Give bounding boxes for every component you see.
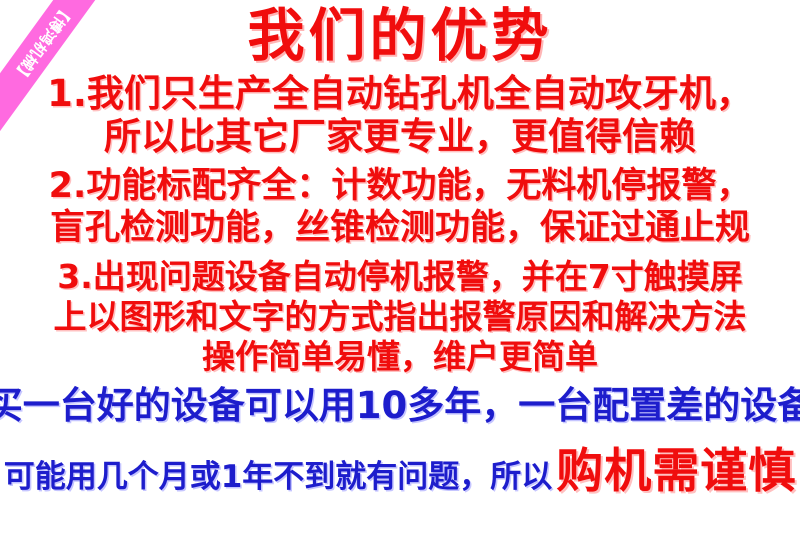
- advantage-1-line-2: 所以比其它厂家更专业，更值得信赖: [104, 118, 696, 155]
- closing-line-2: 可能用几个月或1年不到就有问题，所以 购机需谨慎: [4, 432, 797, 501]
- advantage-2-line-1: 2.功能标配齐全：计数功能，无料机停报警，: [49, 169, 752, 204]
- closing-line-2-blue: 可能用几个月或1年不到就有问题，所以: [4, 451, 553, 496]
- advantage-3-line-1: 3.出现问题设备自动停机报警，并在7寸触摸屏: [57, 260, 742, 293]
- page-title: 我们的优势: [248, 8, 553, 65]
- closing-line-2-emphasis: 购机需谨慎: [556, 432, 796, 501]
- closing-line-1: 买一台好的设备可以用10多年，一台配置差的设备: [0, 387, 800, 424]
- advantage-2-line-2: 盲孔检测功能，丝锥检测功能，保证过通止规: [50, 211, 750, 246]
- promo-poster: 【博鸿机械】 我们的优势 1.我们只生产全自动钻孔机全自动攻牙机， 所以比其它厂…: [0, 0, 800, 554]
- advantage-3-line-3: 操作简单易懂，维户更简单: [202, 340, 598, 373]
- advantage-3-line-2: 上以图形和文字的方式指出报警原因和解决方法: [54, 300, 747, 333]
- advantage-1-line-1: 1.我们只生产全自动钻孔机全自动攻牙机，: [47, 75, 753, 112]
- poster-content: 我们的优势 1.我们只生产全自动钻孔机全自动攻牙机， 所以比其它厂家更专业，更值…: [0, 0, 800, 554]
